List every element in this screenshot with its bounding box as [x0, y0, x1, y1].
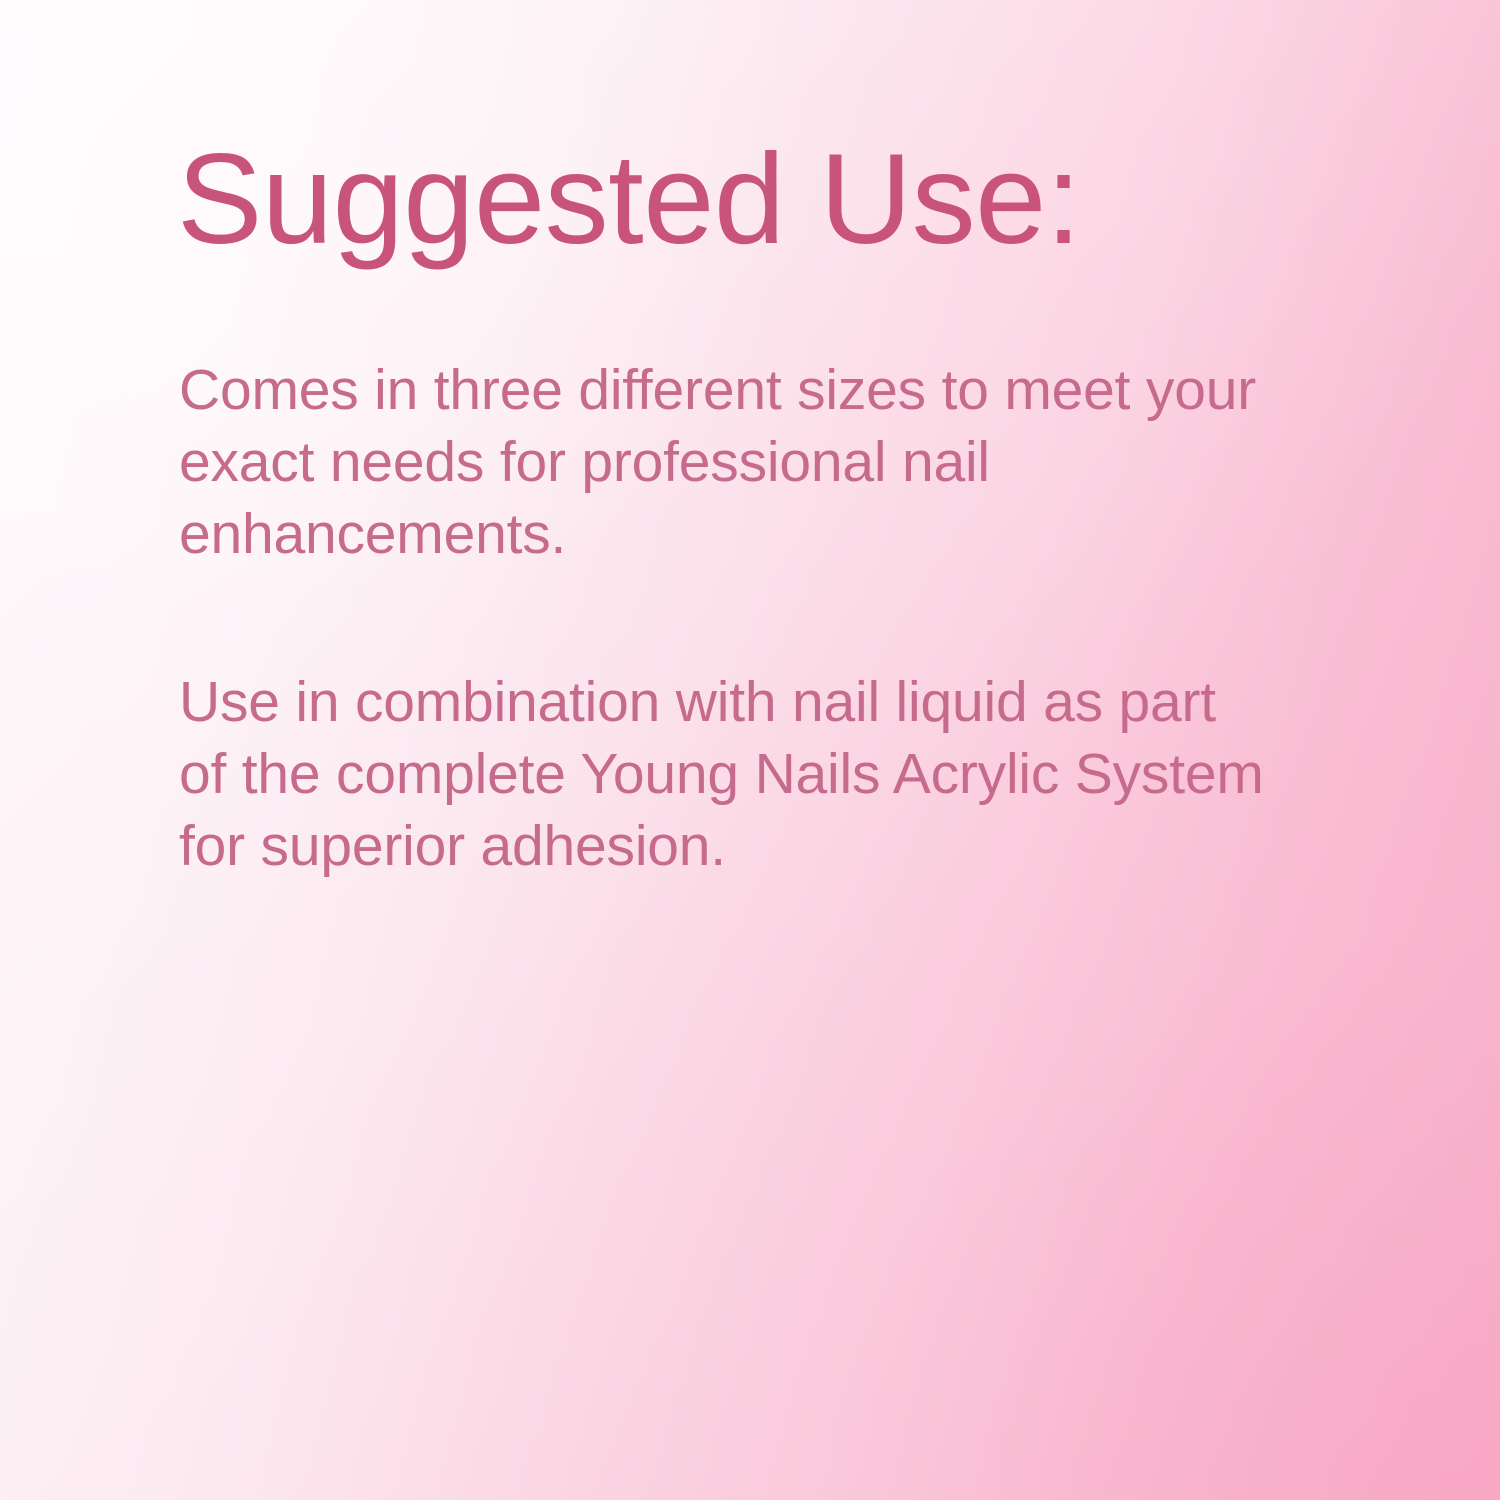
page-title: Suggested Use: — [177, 136, 1081, 264]
paragraph-usage: Use in combination with nail liquid as p… — [179, 666, 1269, 882]
product-info-panel: Suggested Use: Comes in three different … — [0, 0, 1500, 1500]
paragraph-sizes: Comes in three different sizes to meet y… — [179, 354, 1269, 570]
body-text-block: Comes in three different sizes to meet y… — [179, 354, 1269, 882]
